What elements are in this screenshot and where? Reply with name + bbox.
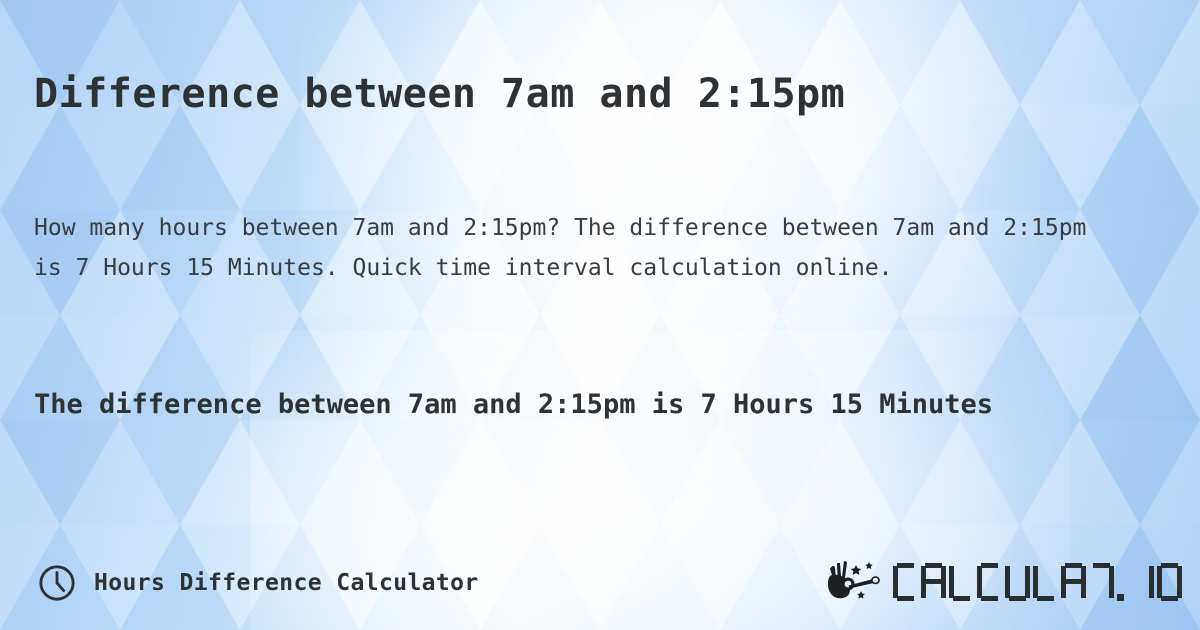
logo-char-o — [1157, 563, 1182, 601]
page-description: How many hours between 7am and 2:15pm? T… — [34, 208, 1114, 288]
logo-char-c2 — [977, 563, 1002, 601]
logo-char-l2 — [1033, 563, 1058, 601]
result-statement: The difference between 7am and 2:15pm is… — [34, 381, 1064, 429]
logo-char-a2 — [1061, 563, 1086, 601]
page-title: Difference between 7am and 2:15pm — [34, 71, 1164, 118]
logo-char-l — [949, 563, 974, 601]
logo-char-c — [893, 563, 918, 601]
clock-icon — [38, 564, 76, 602]
logo-char-dot — [1117, 563, 1126, 601]
logo-char-i — [1129, 563, 1154, 601]
logo-char-a — [921, 563, 946, 601]
site-logo[interactable] — [825, 560, 1182, 604]
logo-char-u — [1005, 563, 1030, 601]
og-image-card: Difference between 7am and 2:15pm How ma… — [0, 0, 1200, 630]
magic-wand-hand-icon — [825, 560, 887, 604]
logo-char-t — [1089, 563, 1114, 601]
brand-label: Hours Difference Calculator — [94, 570, 479, 596]
logo-text — [893, 563, 1182, 601]
brand-line: Hours Difference Calculator — [38, 564, 479, 602]
content-area: Difference between 7am and 2:15pm How ma… — [0, 0, 1200, 630]
footer: Hours Difference Calculator — [0, 538, 1200, 630]
